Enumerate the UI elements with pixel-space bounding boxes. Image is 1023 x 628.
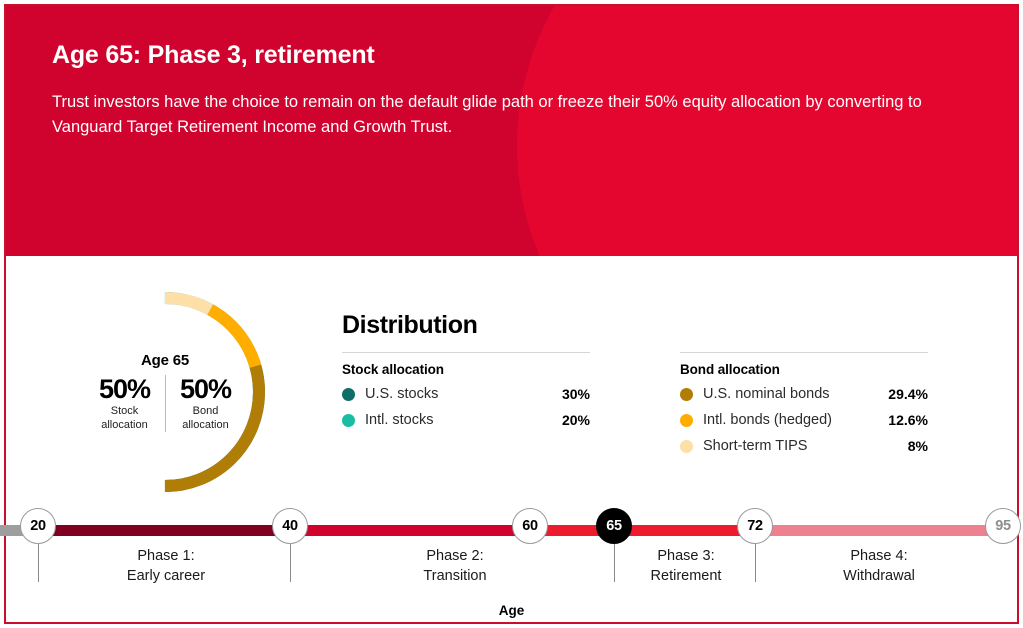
timeline-phase-4-label: Phase 4: Withdrawal	[789, 547, 969, 586]
timeline-node-20[interactable]: 20	[20, 508, 56, 544]
legend-value: 29.4%	[888, 386, 928, 402]
legend-item: U.S. nominal bonds 29.4%	[680, 386, 928, 402]
header-description: Trust investors have the choice to remai…	[52, 90, 962, 140]
donut-bond-label-line2: allocation	[182, 419, 228, 431]
timeline-phase-3-label: Phase 3: Retirement	[596, 547, 776, 586]
timeline-segment-phase2	[290, 525, 530, 536]
bond-allocation-heading: Bond allocation	[680, 362, 928, 377]
legend-item: U.S. stocks 30%	[342, 386, 590, 402]
legend-label: Short-term TIPS	[703, 438, 908, 454]
stock-allocation-column: Stock allocation U.S. stocks 30% Intl. s…	[342, 352, 590, 464]
donut-stock-summary: 50% Stock allocation	[85, 375, 166, 433]
legend-item: Short-term TIPS 8%	[680, 438, 928, 454]
timeline-node-40[interactable]: 40	[272, 508, 308, 544]
timeline-node-95[interactable]: 95	[985, 508, 1021, 544]
donut-stock-label: Stock allocation	[89, 405, 161, 433]
legend-value: 12.6%	[888, 412, 928, 428]
phase-label-line1: Phase 1:	[137, 548, 194, 564]
bond-allocation-column: Bond allocation U.S. nominal bonds 29.4%…	[680, 352, 928, 464]
timeline-tick	[614, 544, 615, 582]
timeline-node-65[interactable]: 65	[596, 508, 632, 544]
phase-label-line1: Phase 3:	[657, 548, 714, 564]
allocation-donut-chart: Age 65 50% Stock allocation 50%	[62, 289, 268, 495]
header-text-block: Age 65: Phase 3, retirement Trust invest…	[6, 6, 1017, 140]
donut-bond-label: Bond allocation	[170, 405, 242, 433]
timeline-axis-label: Age	[0, 603, 1023, 618]
stock-column-divider	[342, 352, 590, 353]
short-term-tips-color-swatch-icon	[680, 440, 693, 453]
us-nominal-bonds-color-swatch-icon	[680, 388, 693, 401]
timeline-tick	[755, 544, 756, 582]
page-title: Age 65: Phase 3, retirement	[52, 42, 971, 70]
stock-allocation-heading: Stock allocation	[342, 362, 590, 377]
donut-stock-percent: 50%	[89, 375, 161, 403]
distribution-section: Distribution Stock allocation U.S. stock…	[342, 311, 987, 464]
legend-value: 8%	[908, 438, 928, 454]
phase-label-line1: Phase 2:	[426, 548, 483, 564]
bond-column-divider	[680, 352, 928, 353]
donut-stock-label-line2: allocation	[101, 419, 147, 431]
timeline-tick	[38, 544, 39, 582]
legend-label: Intl. bonds (hedged)	[703, 412, 888, 428]
timeline-segment-phase3	[530, 525, 755, 536]
phase-label-line2: Retirement	[651, 568, 722, 584]
donut-bond-percent: 50%	[170, 375, 242, 403]
timeline-tick	[290, 544, 291, 582]
timeline-phase-1-label: Phase 1: Early career	[76, 547, 256, 586]
distribution-columns: Stock allocation U.S. stocks 30% Intl. s…	[342, 352, 987, 464]
timeline-node-72[interactable]: 72	[737, 508, 773, 544]
legend-label: U.S. nominal bonds	[703, 386, 888, 402]
donut-bond-label-line1: Bond	[193, 405, 219, 417]
legend-value: 20%	[562, 412, 590, 428]
legend-label: U.S. stocks	[365, 386, 562, 402]
phase-label-line2: Early career	[127, 568, 205, 584]
us-stocks-color-swatch-icon	[342, 388, 355, 401]
legend-label: Intl. stocks	[365, 412, 562, 428]
legend-item: Intl. bonds (hedged) 12.6%	[680, 412, 928, 428]
timeline-node-60[interactable]: 60	[512, 508, 548, 544]
header-banner: Age 65: Phase 3, retirement Trust invest…	[6, 6, 1017, 256]
donut-age-label: Age 65	[141, 352, 189, 369]
legend-item: Intl. stocks 20%	[342, 412, 590, 428]
legend-value: 30%	[562, 386, 590, 402]
phase-label-line2: Transition	[423, 568, 486, 584]
phase-label-line1: Phase 4:	[850, 548, 907, 564]
intl-stocks-color-swatch-icon	[342, 414, 355, 427]
timeline-phase-2-label: Phase 2: Transition	[365, 547, 545, 586]
donut-stock-label-line1: Stock	[111, 405, 139, 417]
distribution-title: Distribution	[342, 311, 987, 340]
donut-bond-summary: 50% Bond allocation	[166, 375, 246, 433]
slide-root: Age 65: Phase 3, retirement Trust invest…	[0, 0, 1023, 628]
phase-label-line2: Withdrawal	[843, 568, 915, 584]
timeline-segment-phase1	[38, 525, 290, 536]
timeline-segment-phase4	[755, 525, 1003, 536]
donut-center-labels: Age 65 50% Stock allocation 50%	[62, 289, 268, 495]
intl-bonds-color-swatch-icon	[680, 414, 693, 427]
age-timeline: 20 40 60 65 72 95 Phase 1: Early career …	[0, 485, 1023, 628]
donut-split-values: 50% Stock allocation 50% Bond allocation	[85, 375, 246, 433]
